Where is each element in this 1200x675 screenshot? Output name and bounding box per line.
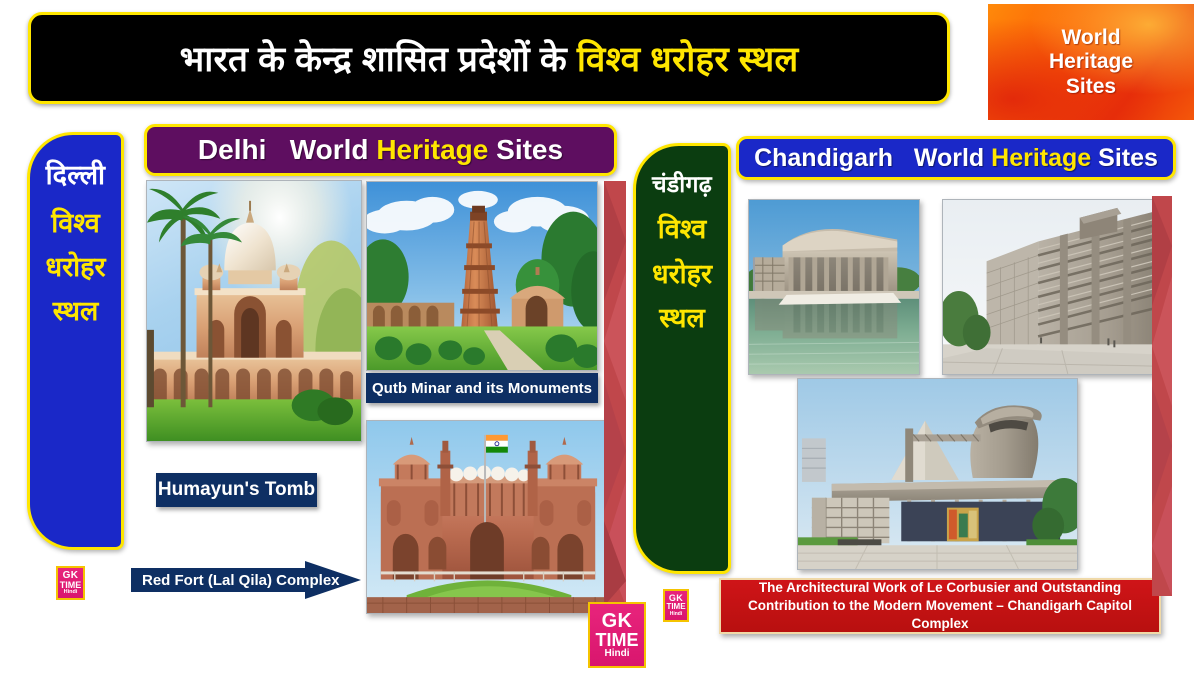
title-part-white: भारत के केन्द्र शासित प्रदेशों के	[180, 40, 567, 79]
gk-time-watermark-main: GK TIME Hindi	[588, 602, 646, 668]
delhi-header-heritage: Heritage	[376, 134, 488, 165]
delhi-header-text: Delhi World Heritage Sites	[198, 134, 563, 166]
watermark-line-2: TIME	[596, 631, 639, 649]
chandigarh-header-world: World	[914, 144, 984, 172]
title-part-yellow: विश्व धरोहर स्थल	[577, 40, 799, 79]
chandigarh-header-text: Chandigarh World Heritage Sites	[754, 144, 1158, 173]
chandigarh-header-sites: Sites	[1098, 144, 1158, 172]
delhi-header-city: Delhi	[198, 134, 266, 165]
qutb-minar-caption: Qutb Minar and its Monuments	[366, 373, 598, 403]
badge-line-1: World	[1061, 26, 1120, 50]
chandigarh-section-header: Chandigarh World Heritage Sites	[736, 136, 1176, 180]
palace-of-assembly-pool-photo	[748, 199, 920, 375]
chandigarh-side-city: चंडीगढ़	[652, 172, 712, 197]
watermark-line-1: GK	[602, 611, 633, 631]
chandigarh-side-line-3: स्थल	[659, 304, 705, 332]
chandigarh-side-panel: चंडीगढ़ विश्व धरोहर स्थल	[633, 143, 731, 574]
watermark-line-3: Hindi	[670, 612, 683, 617]
delhi-side-city: दिल्ली	[46, 161, 106, 191]
badge-line-2: Heritage	[1049, 50, 1133, 74]
chandigarh-side-line-1: विश्व	[658, 215, 707, 243]
watermark-line-3: Hindi	[64, 590, 78, 596]
delhi-side-line-1: विश्व	[51, 209, 100, 237]
chandigarh-caption: The Architectural Work of Le Corbusier a…	[719, 578, 1161, 634]
badge-line-3: Sites	[1066, 75, 1116, 99]
world-heritage-sites-badge: World Heritage Sites	[988, 4, 1194, 120]
delhi-side-line-3: स्थल	[53, 297, 99, 325]
red-fort-caption-arrow: Red Fort (Lal Qila) Complex	[131, 561, 361, 599]
slide-canvas: भारत के केन्द्र शासित प्रदेशों के विश्व …	[0, 0, 1200, 675]
humayuns-tomb-caption: Humayun's Tomb	[156, 473, 317, 507]
delhi-header-world: World	[290, 134, 369, 165]
delhi-side-line-2: धरोहर	[45, 253, 105, 281]
humayuns-tomb-photo	[146, 180, 362, 442]
secretariat-building-photo	[942, 199, 1154, 375]
slide-title-banner: भारत के केन्द्र शासित प्रदेशों के विश्व …	[28, 12, 950, 104]
chandigarh-header-heritage: Heritage	[991, 144, 1091, 172]
qutb-minar-photo	[366, 181, 598, 371]
gk-time-watermark-center: GK TIME Hindi	[663, 589, 689, 622]
gk-time-watermark-left: GK TIME Hindi	[56, 566, 85, 600]
page-title: भारत के केन्द्र शासित प्रदेशों के विश्व …	[180, 35, 799, 82]
divider-stripe-right	[1152, 196, 1172, 596]
capitol-complex-assembly-photo	[797, 378, 1078, 570]
divider-stripe-middle	[604, 181, 626, 606]
delhi-side-panel: दिल्ली विश्व धरोहर स्थल	[27, 132, 124, 550]
red-fort-photo	[366, 420, 611, 614]
chandigarh-side-line-2: धरोहर	[652, 260, 712, 288]
watermark-line-3: Hindi	[605, 649, 630, 659]
delhi-section-header: Delhi World Heritage Sites	[144, 124, 617, 176]
chandigarh-header-city: Chandigarh	[754, 144, 893, 172]
delhi-header-sites: Sites	[496, 134, 563, 165]
